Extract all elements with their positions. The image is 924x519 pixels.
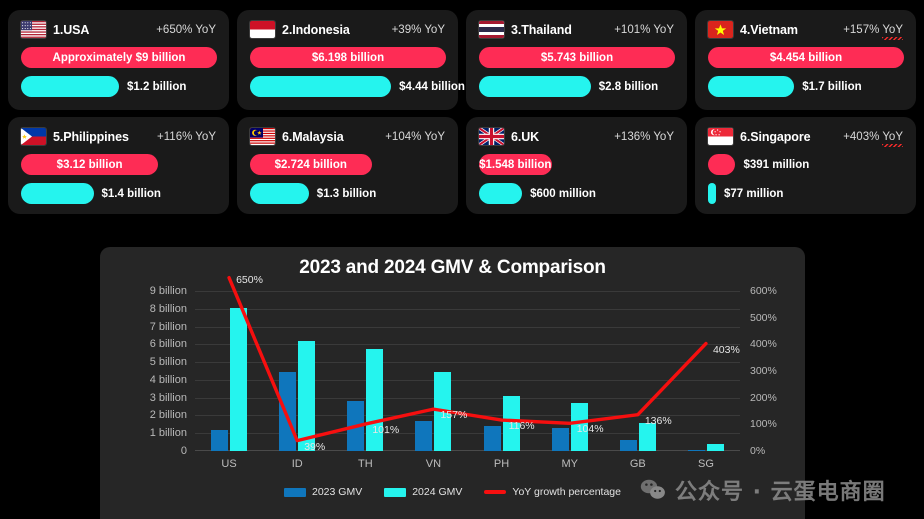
country-name: 6.Malaysia xyxy=(282,130,344,144)
legend-item[interactable]: 2024 GMV xyxy=(384,486,462,498)
flag-th xyxy=(479,21,504,38)
country-name: 6.Singapore xyxy=(740,130,810,144)
gmv-2024-row: $3.12 billion xyxy=(21,154,216,175)
y-axis-left-tick: 4 billion xyxy=(150,374,187,386)
gmv-2023-pill xyxy=(708,76,794,97)
gmv-2024-value: $3.12 billion xyxy=(57,159,123,171)
legend-swatch xyxy=(384,488,406,497)
y-axis-left-tick: 8 billion xyxy=(150,303,187,315)
card-header: 1.USA +650% YoY xyxy=(21,21,216,38)
yoy-growth-label: +101% YoY xyxy=(614,24,674,36)
gmv-2023-row: $1.7 billion xyxy=(708,76,903,97)
country-card[interactable]: 4.Vietnam +157% YoY $4.454 billion $1.7 … xyxy=(695,10,916,110)
gmv-2024-row: Approximately $9 billion xyxy=(21,47,216,68)
gmv-2024-value: $391 million xyxy=(743,159,809,171)
gmv-2023-value: $600 million xyxy=(530,188,596,200)
gmv-2024-row: $391 million xyxy=(708,154,903,175)
gmv-2024-row: $1.548 billion xyxy=(479,154,674,175)
gmv-2023-row: $4.44 billion xyxy=(250,76,445,97)
card-header: 3.Thailand +101% YoY xyxy=(479,21,674,38)
yoy-point-label: 650% xyxy=(236,274,263,286)
yoy-growth-label: +403% YoY xyxy=(843,131,903,143)
gmv-2023-value: $1.4 billion xyxy=(102,188,161,200)
gmv-2024-pill: $4.454 billion xyxy=(708,47,904,68)
card-header: 6.Malaysia +104% YoY xyxy=(250,128,445,145)
y-axis-left-tick: 2 billion xyxy=(150,409,187,421)
yoy-point-label: 157% xyxy=(440,409,467,421)
x-axis-tick-label: GB xyxy=(604,458,672,470)
card-header: 6.Singapore +403% YoY xyxy=(708,128,903,145)
country-card[interactable]: 6.Malaysia +104% YoY $2.724 billion $1.3… xyxy=(237,117,458,214)
y-axis-right-tick: 100% xyxy=(750,418,777,430)
yoy-growth-label: +157% YoY xyxy=(843,24,903,36)
legend-item[interactable]: 2023 GMV xyxy=(284,486,362,498)
x-axis-tick-label: US xyxy=(195,458,263,470)
country-card[interactable]: 6.UK +136% YoY $1.548 billion $600 milli… xyxy=(466,117,687,214)
country-name: 3.Thailand xyxy=(511,23,572,37)
gmv-2024-pill: Approximately $9 billion xyxy=(21,47,217,68)
country-card-row: 1.USA +650% YoY Approximately $9 billion… xyxy=(8,10,916,110)
gmv-2023-pill xyxy=(479,183,522,204)
flag-vn xyxy=(708,21,733,38)
chart-plot-area: 01 billion2 billion3 billion4 billion5 b… xyxy=(195,291,740,451)
gmv-2024-pill: $5.743 billion xyxy=(479,47,675,68)
yoy-line-series xyxy=(195,291,740,451)
gmv-2024-value: $4.454 billion xyxy=(770,52,842,64)
gmv-2024-value: $5.743 billion xyxy=(541,52,613,64)
y-axis-left-tick: 3 billion xyxy=(150,392,187,404)
gmv-2024-row: $2.724 billion xyxy=(250,154,445,175)
gmv-2023-value: $1.2 billion xyxy=(127,81,186,93)
country-card[interactable]: 2.Indonesia +39% YoY $6.198 billion $4.4… xyxy=(237,10,458,110)
legend-label: 2023 GMV xyxy=(312,486,362,498)
chart-title: 2023 and 2024 GMV & Comparison xyxy=(100,257,805,279)
flag-us xyxy=(21,21,46,38)
gmv-2023-pill xyxy=(250,183,309,204)
y-axis-right-tick: 500% xyxy=(750,312,777,324)
flag-gb xyxy=(479,128,504,145)
watermark: 公众号 · 云蛋电商圈 xyxy=(640,474,886,506)
y-axis-right-tick: 300% xyxy=(750,365,777,377)
gmv-2023-row: $600 million xyxy=(479,183,674,204)
legend-label: 2024 GMV xyxy=(412,486,462,498)
yoy-growth-label: +650% YoY xyxy=(156,24,216,36)
y-axis-left-tick: 6 billion xyxy=(150,338,187,350)
gmv-2024-row: $6.198 billion xyxy=(250,47,445,68)
gmv-2023-row: $2.8 billion xyxy=(479,76,674,97)
yoy-growth-label: +39% YoY xyxy=(392,24,445,36)
wechat-icon xyxy=(640,479,666,501)
legend-swatch xyxy=(284,488,306,497)
x-axis-tick-label: PH xyxy=(468,458,536,470)
yoy-point-label: 104% xyxy=(577,423,604,435)
legend-label: YoY growth percentage xyxy=(512,486,621,498)
watermark-text: 公众号 · 云蛋电商圈 xyxy=(675,474,886,506)
gmv-2023-pill xyxy=(21,76,119,97)
gmv-2024-value: $1.548 billion xyxy=(479,159,551,171)
flag-ph xyxy=(21,128,46,145)
yoy-point-label: 101% xyxy=(372,424,399,436)
y-axis-left-tick: 9 billion xyxy=(150,285,187,297)
gmv-2024-value: $2.724 billion xyxy=(275,159,347,171)
country-card-grid: 1.USA +650% YoY Approximately $9 billion… xyxy=(0,0,924,221)
gmv-2024-row: $5.743 billion xyxy=(479,47,674,68)
country-card[interactable]: 5.Philippines +116% YoY $3.12 billion $1… xyxy=(8,117,229,214)
y-axis-left-tick: 7 billion xyxy=(150,321,187,333)
country-card-row: 5.Philippines +116% YoY $3.12 billion $1… xyxy=(8,117,916,214)
gmv-2024-pill: $6.198 billion xyxy=(250,47,446,68)
card-header: 6.UK +136% YoY xyxy=(479,128,674,145)
gmv-2023-value: $1.3 billion xyxy=(317,188,376,200)
legend-item[interactable]: YoY growth percentage xyxy=(484,486,621,498)
gmv-2023-value: $1.7 billion xyxy=(802,81,861,93)
x-axis-tick-label: TH xyxy=(331,458,399,470)
y-axis-right-tick: 600% xyxy=(750,285,777,297)
gmv-2024-pill: $2.724 billion xyxy=(250,154,372,175)
gmv-2023-pill xyxy=(21,183,94,204)
x-axis-tick-label: SG xyxy=(672,458,740,470)
country-card[interactable]: 6.Singapore +403% YoY $391 million $77 m… xyxy=(695,117,916,214)
flag-my xyxy=(250,128,275,145)
y-axis-left-tick: 0 xyxy=(181,445,187,457)
gmv-2023-row: $77 million xyxy=(708,183,903,204)
gmv-2023-value: $2.8 billion xyxy=(599,81,658,93)
country-name: 2.Indonesia xyxy=(282,23,350,37)
country-name: 1.USA xyxy=(53,23,89,37)
gmv-2024-value: $6.198 billion xyxy=(312,52,384,64)
gmv-2023-pill xyxy=(479,76,591,97)
country-name: 6.UK xyxy=(511,130,539,144)
gmv-2024-pill: $3.12 billion xyxy=(21,154,158,175)
gmv-2023-row: $1.2 billion xyxy=(21,76,216,97)
gmv-2024-row: $4.454 billion xyxy=(708,47,903,68)
flag-sg xyxy=(708,128,733,145)
y-axis-right-tick: 0% xyxy=(750,445,765,457)
yoy-point-label: 403% xyxy=(713,344,740,356)
screenshot-root: 1.USA +650% YoY Approximately $9 billion… xyxy=(0,0,924,519)
y-axis-left-tick: 1 billion xyxy=(150,427,187,439)
country-card[interactable]: 3.Thailand +101% YoY $5.743 billion $2.8… xyxy=(466,10,687,110)
gmv-2023-pill xyxy=(250,76,391,97)
gmv-2024-pill: $1.548 billion xyxy=(479,154,552,175)
gmv-2024-pill xyxy=(708,154,735,175)
yoy-point-label: 136% xyxy=(645,415,672,427)
gmv-2024-value: Approximately $9 billion xyxy=(53,52,186,64)
yoy-point-label: 39% xyxy=(304,441,325,453)
gmv-2023-row: $1.4 billion xyxy=(21,183,216,204)
yoy-point-label: 116% xyxy=(509,420,535,432)
card-header: 5.Philippines +116% YoY xyxy=(21,128,216,145)
yoy-growth-label: +116% YoY xyxy=(157,131,216,143)
flag-id xyxy=(250,21,275,38)
x-axis-tick-label: ID xyxy=(263,458,331,470)
legend-swatch xyxy=(484,490,506,494)
country-name: 4.Vietnam xyxy=(740,23,798,37)
yoy-polyline xyxy=(229,278,706,441)
gmv-2023-value: $4.44 billion xyxy=(399,81,465,93)
x-axis-tick-label: VN xyxy=(399,458,467,470)
x-axis-tick-label: MY xyxy=(536,458,604,470)
y-axis-right-tick: 400% xyxy=(750,338,777,350)
card-header: 2.Indonesia +39% YoY xyxy=(250,21,445,38)
country-card[interactable]: 1.USA +650% YoY Approximately $9 billion… xyxy=(8,10,229,110)
y-axis-right-tick: 200% xyxy=(750,392,777,404)
yoy-growth-label: +136% YoY xyxy=(614,131,674,143)
country-name: 5.Philippines xyxy=(53,130,129,144)
gmv-2023-row: $1.3 billion xyxy=(250,183,445,204)
gmv-2023-value: $77 million xyxy=(724,188,783,200)
yoy-growth-label: +104% YoY xyxy=(385,131,445,143)
y-axis-left-tick: 5 billion xyxy=(150,356,187,368)
gmv-2023-pill xyxy=(708,183,716,204)
card-header: 4.Vietnam +157% YoY xyxy=(708,21,903,38)
